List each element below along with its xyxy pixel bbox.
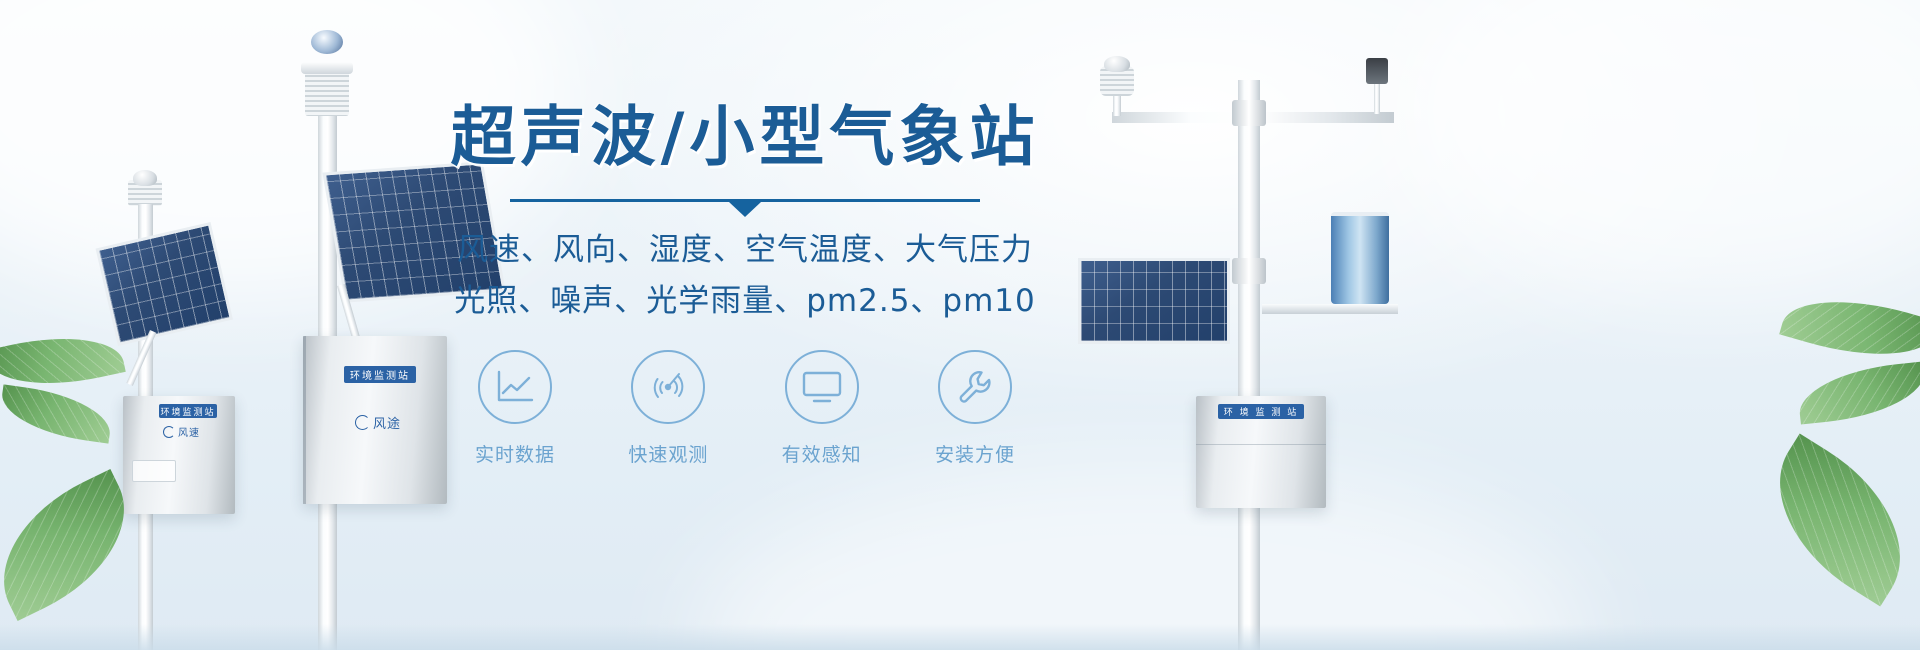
mid-shield-cap	[301, 62, 353, 74]
left-cabinet-vent	[132, 460, 176, 482]
right-sensor-dome	[1104, 56, 1130, 72]
mid-cabinet-brand: 风途	[355, 413, 401, 432]
feature-circle	[785, 350, 859, 424]
feature-circle	[938, 350, 1012, 424]
banner-copy: 超声波/小型气象站 风速、风向、湿度、空气温度、大气压力 光照、噪声、光学雨量、…	[445, 104, 1045, 326]
left-cabinet-badge: 环境监测站	[159, 404, 217, 418]
brand-mark-icon	[355, 415, 370, 430]
product-banner: 环境监测站 风速 环境监测站 风途 环 境 监	[0, 0, 1920, 650]
right-sensor-drop-left	[1113, 96, 1121, 116]
feature-item-easy-install[interactable]: 安装方便	[915, 350, 1035, 467]
feature-item-effective-sensing[interactable]: 有效感知	[762, 350, 882, 467]
subtitle-line-2: 光照、噪声、光学雨量、pm2.5、pm10	[445, 277, 1045, 326]
leaf-right-1	[1779, 280, 1920, 375]
right-mast	[1238, 80, 1260, 650]
subtitle-line-1: 风速、风向、湿度、空气温度、大气压力	[445, 226, 1045, 275]
mid-sky-sensor-dome	[311, 30, 343, 54]
leaf-right-3	[1745, 434, 1920, 607]
feature-label: 安装方便	[915, 440, 1035, 467]
feature-item-realtime-data[interactable]: 实时数据	[455, 350, 575, 467]
left-solar-panel	[96, 222, 233, 346]
leaf-right-2	[1796, 361, 1920, 424]
title-divider	[510, 199, 980, 202]
left-brand-text: 风速	[178, 424, 200, 439]
line-chart-icon	[495, 369, 535, 405]
feature-circle	[631, 350, 705, 424]
right-mast-collar-mid	[1232, 258, 1266, 284]
monitor-icon	[801, 369, 843, 405]
mid-cabinet-door-seam	[303, 336, 306, 504]
divider-triangle-icon	[729, 202, 761, 217]
feature-circle	[478, 350, 552, 424]
right-cabinet-panel-line	[1196, 444, 1326, 445]
left-cabinet-brand: 风速	[163, 424, 200, 439]
feature-label: 实时数据	[455, 440, 575, 467]
right-sensor-drop-right	[1374, 84, 1380, 114]
feature-item-fast-observation[interactable]: 快速观测	[608, 350, 728, 467]
left-sensor-dome	[133, 170, 157, 186]
right-cabinet-badge: 环 境 监 测 站	[1218, 404, 1304, 419]
feature-label: 有效感知	[762, 440, 882, 467]
mid-radiation-shield	[305, 72, 349, 116]
right-solar-panel	[1078, 258, 1230, 344]
mid-cabinet-badge: 环境监测站	[344, 366, 416, 383]
radar-scan-icon	[648, 367, 688, 407]
feature-list: 实时数据 快速观测 有效感知	[445, 350, 1045, 467]
page-title: 超声波/小型气象站	[445, 104, 1045, 173]
wrench-icon	[955, 367, 995, 407]
ground-haze	[0, 624, 1920, 650]
mid-brand-text: 风途	[373, 413, 401, 432]
brand-mark-icon	[163, 426, 175, 438]
right-gauge-shelf	[1262, 304, 1398, 314]
right-mast-collar-top	[1232, 100, 1266, 126]
right-anemometer-icon	[1366, 58, 1388, 84]
right-rain-gauge	[1331, 212, 1389, 304]
leaf-bottom-left-2	[0, 384, 115, 443]
feature-label: 快速观测	[608, 440, 728, 467]
